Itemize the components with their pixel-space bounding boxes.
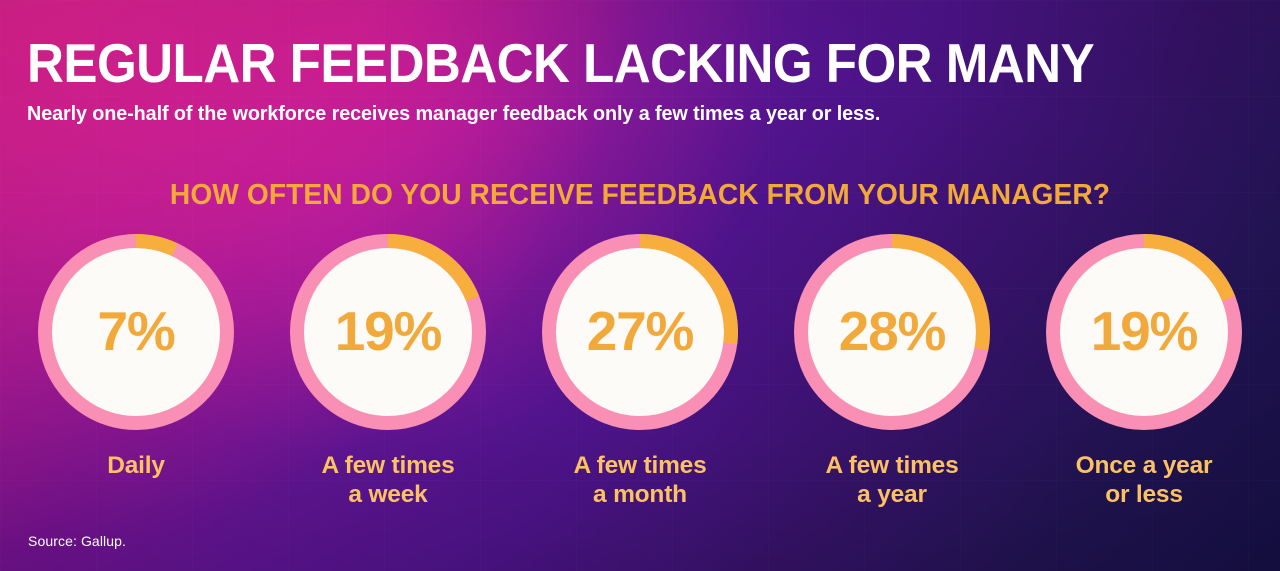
donut-value-label: 28%	[794, 234, 990, 430]
page-title: REGULAR FEEDBACK LACKING FOR MANY	[27, 34, 1143, 92]
donut-category-label: Daily	[107, 451, 165, 480]
donut-category-label: A few times a week	[321, 451, 454, 509]
donut-chart: 19%	[290, 234, 486, 430]
donut-value-label: 27%	[542, 234, 738, 430]
donut-cell: 7%Daily	[30, 234, 242, 480]
donut-chart-row: 7%Daily19%A few times a week27%A few tim…	[30, 234, 1250, 509]
source-attribution: Source: Gallup.	[28, 532, 126, 550]
donut-category-label: A few times a month	[573, 451, 706, 509]
donut-category-label: Once a year or less	[1076, 451, 1213, 509]
donut-category-label: A few times a year	[825, 451, 958, 509]
donut-chart: 28%	[794, 234, 990, 430]
donut-cell: 19%Once a year or less	[1038, 234, 1250, 509]
page-subtitle: Nearly one-half of the workforce receive…	[27, 101, 1185, 127]
donut-chart: 27%	[542, 234, 738, 430]
chart-question-heading: HOW OFTEN DO YOU RECEIVE FEEDBACK FROM Y…	[19, 178, 1261, 212]
infographic-canvas: REGULAR FEEDBACK LACKING FOR MANY Nearly…	[0, 0, 1280, 571]
donut-value-label: 7%	[38, 234, 234, 430]
donut-cell: 19%A few times a week	[282, 234, 494, 509]
donut-chart: 19%	[1046, 234, 1242, 430]
donut-value-label: 19%	[290, 234, 486, 430]
header: REGULAR FEEDBACK LACKING FOR MANY Nearly…	[27, 34, 1227, 127]
donut-cell: 28%A few times a year	[786, 234, 998, 509]
donut-value-label: 19%	[1046, 234, 1242, 430]
donut-chart: 7%	[38, 234, 234, 430]
donut-cell: 27%A few times a month	[534, 234, 746, 509]
